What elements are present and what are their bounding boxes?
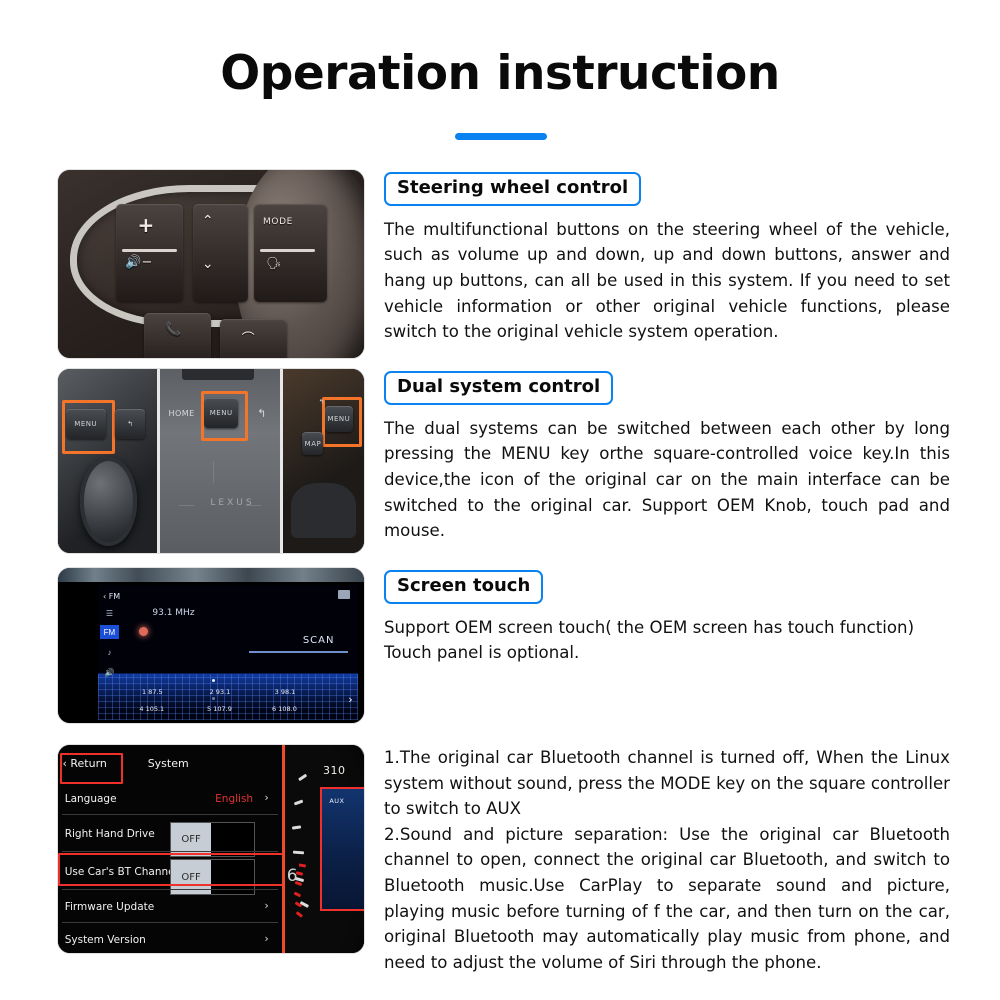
- fm-next-page-icon[interactable]: ›: [348, 693, 352, 706]
- fm-preset-3[interactable]: 3 98.1: [275, 688, 296, 696]
- panel2-back-icon: ↰: [251, 400, 273, 426]
- title-underline-rule: [455, 133, 547, 140]
- section-1-badge: Steering wheel control: [384, 172, 641, 206]
- fm-list-icon[interactable]: ☰: [100, 607, 120, 621]
- panel2-menu-highlight: [201, 391, 248, 441]
- panel2-brand-label: LEXUS: [210, 498, 254, 508]
- dual-system-controls-photo: MENU ↰ HOME MENU ↰ LEXUS MENU: [58, 369, 364, 553]
- panel1-oem-knob: [80, 457, 137, 545]
- volume-down-icon: 🔊−: [125, 255, 152, 270]
- call-answer-icon: 📞: [165, 322, 181, 337]
- settings-screen-title: System: [148, 757, 189, 770]
- fm-preset-4[interactable]: 4 105.1: [139, 705, 164, 713]
- call-hangup-icon: ⌒: [242, 328, 255, 347]
- fm-page-dots: [212, 669, 222, 672]
- settings-row-language-value[interactable]: English: [215, 793, 253, 805]
- fm-frequency-display: 93.1 MHz: [152, 608, 194, 618]
- volume-up-icon: +: [138, 213, 155, 237]
- section-1: Steering wheel control The multifunction…: [384, 172, 950, 345]
- settings-menu-panel: ‹ Return System Language English › Right…: [58, 745, 282, 953]
- section-4-body: 1.The original car Bluetooth channel is …: [384, 745, 950, 975]
- settings-row-firmware-chevron[interactable]: ›: [264, 899, 268, 912]
- instrument-cluster-photo: 6 310 AUX: [282, 745, 364, 953]
- settings-row-rhd-label: Right Hand Drive: [65, 828, 155, 840]
- voice-command-icon: 🗣: [266, 256, 281, 270]
- fm-keypad-icon: [338, 590, 350, 599]
- settings-row-version-chevron[interactable]: ›: [264, 932, 268, 945]
- section-2: Dual system control The dual systems can…: [384, 371, 950, 544]
- steering-wheel-controls-photo: + 🔊− ⌃ ⌄ MODE 🗣 📞 ⌒: [58, 170, 364, 358]
- operation-instruction-page: Operation instruction + 🔊− ⌃ ⌄ MODE 🗣 📞 …: [0, 0, 1000, 1000]
- chevron-down-icon: ⌄: [202, 256, 214, 272]
- settings-row-firmware-label[interactable]: Firmware Update: [65, 901, 155, 913]
- system-settings-menu-photo: ‹ Return System Language English › Right…: [58, 745, 364, 953]
- dual-panel-knob-console: MENU ↰: [58, 369, 157, 553]
- section-4-body-line-2: 2.Sound and picture separation: Use the …: [384, 822, 950, 976]
- settings-row-language-chevron[interactable]: ›: [264, 791, 268, 804]
- settings-row-bt-highlight: [58, 853, 284, 886]
- fm-source-label: ‹ FM: [103, 592, 120, 601]
- section-3-badge: Screen touch: [384, 570, 543, 604]
- fm-scan-underline: [249, 651, 348, 653]
- oem-fm-radio-screen-photo: ‹ FM 93.1 MHz ☰ FM ♪ 🔊 SCAN 1 87.5: [58, 568, 364, 723]
- chevron-up-icon: ⌃: [202, 213, 214, 229]
- section-2-body: The dual systems can be switched between…: [384, 416, 950, 544]
- cluster-speed-readout: 310: [323, 764, 346, 777]
- panel3-back-icon: ↰: [314, 391, 330, 413]
- fm-preset-5[interactable]: 5 107.9: [207, 705, 232, 713]
- fm-source-icon[interactable]: ♪: [100, 645, 120, 659]
- section-3-body: Support OEM screen touch( the OEM screen…: [384, 615, 950, 666]
- fm-preset-6[interactable]: 6 108.0: [272, 705, 297, 713]
- cluster-aux-panel: [320, 787, 364, 912]
- section-3: Screen touch Support OEM screen touch( t…: [384, 570, 950, 666]
- fm-band-icon[interactable]: FM: [100, 625, 120, 639]
- section-4-body-line-1: 1.The original car Bluetooth channel is …: [384, 745, 950, 822]
- fm-volume-icon[interactable]: 🔊: [100, 665, 120, 679]
- fm-preset-2[interactable]: 2 93.1: [210, 688, 231, 696]
- dual-panel-touchpad: HOME MENU ↰ LEXUS: [157, 369, 283, 553]
- fm-side-toolbar[interactable]: ☰ FM ♪ 🔊: [98, 607, 121, 691]
- section-1-body: The multifunctional buttons on the steer…: [384, 217, 950, 345]
- panel1-menu-highlight: [62, 400, 116, 454]
- mode-button-label: MODE: [263, 217, 293, 227]
- settings-row-language-label[interactable]: Language: [65, 793, 117, 805]
- fm-tuning-indicator: [139, 627, 148, 636]
- fm-preset-1[interactable]: 1 87.5: [142, 688, 163, 696]
- dash-reflection-strip: [58, 568, 364, 582]
- fm-scan-button[interactable]: SCAN: [303, 635, 335, 646]
- panel2-home-button: HOME: [166, 400, 197, 426]
- dual-panel-side-console: MENU MAP ↰: [283, 369, 364, 553]
- settings-return-highlight: [60, 753, 122, 784]
- panel3-map-button: MAP: [302, 432, 323, 456]
- cluster-aux-label: AUX: [329, 797, 344, 805]
- tachometer-6-label: 6: [287, 866, 298, 886]
- panel1-back-icon: ↰: [115, 409, 145, 438]
- section-2-badge: Dual system control: [384, 371, 613, 405]
- settings-row-version-label[interactable]: System Version: [65, 934, 146, 946]
- page-title: Operation instruction: [0, 48, 1000, 100]
- section-4: 1.The original car Bluetooth channel is …: [384, 745, 950, 975]
